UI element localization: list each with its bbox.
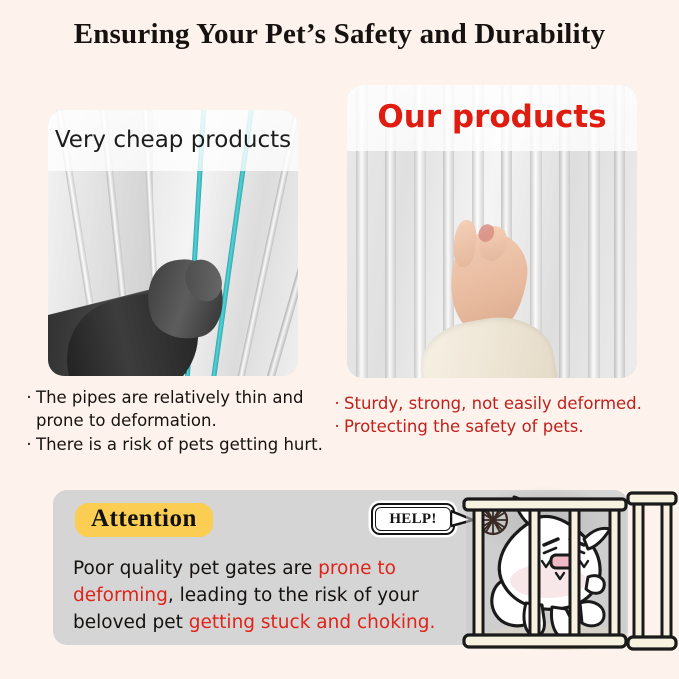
- gate-bar-vertical: [474, 507, 483, 637]
- bubble-label: HELP!: [371, 503, 455, 535]
- gate-bar-vertical: [610, 507, 619, 637]
- attention-body: Poor quality pet gates are prone to defo…: [73, 556, 448, 636]
- page-title: Ensuring Your Pet’s Safety and Durabilit…: [0, 18, 679, 51]
- gate-bar-vertical: [530, 507, 539, 637]
- cheap-products-bullets: · The pipes are relatively thin and pron…: [22, 386, 342, 456]
- cat-stuck-illustration: [452, 485, 679, 660]
- bullet-text: There is a risk of pets getting hurt.: [36, 433, 342, 456]
- bullet-text: Protecting the safety of pets.: [344, 415, 675, 438]
- our-products-caption: Our products: [347, 99, 637, 135]
- gate-bar-vertical: [634, 501, 643, 643]
- card-cheap-products: Very cheap products: [48, 110, 298, 376]
- cat-paw-side: [586, 576, 604, 594]
- cat-tail-nub: [580, 602, 604, 626]
- gate-rail-bottom: [464, 635, 626, 647]
- attention-highlight-text: getting stuck and choking.: [189, 612, 436, 633]
- bullet-dot: ·: [330, 392, 344, 415]
- list-item: · There is a risk of pets getting hurt.: [22, 433, 342, 456]
- gate-rail-top-right: [628, 493, 676, 504]
- card-our-products: Our products: [347, 85, 637, 378]
- list-item: · The pipes are relatively thin and pron…: [22, 386, 342, 433]
- cheap-products-caption: Very cheap products: [48, 127, 298, 153]
- attention-plain-text: Poor quality pet gates are: [73, 558, 318, 579]
- gate-rail-top: [464, 499, 626, 510]
- gate-rail-bottom-right: [628, 637, 676, 649]
- bullet-text: The pipes are relatively thin and prone …: [36, 386, 342, 433]
- help-speech-bubble: HELP!: [371, 503, 455, 535]
- bullet-dot: ·: [22, 386, 36, 409]
- gate-bar-vertical: [662, 501, 671, 643]
- list-item: · Sturdy, strong, not easily deformed.: [330, 392, 675, 415]
- infographic-root: Ensuring Your Pet’s Safety and Durabilit…: [0, 0, 679, 679]
- our-products-bullets: · Sturdy, strong, not easily deformed. ·…: [330, 392, 675, 439]
- list-item: · Protecting the safety of pets.: [330, 415, 675, 438]
- bullet-dot: ·: [22, 433, 36, 456]
- gate-bar-vertical: [570, 507, 579, 637]
- bullet-text: Sturdy, strong, not easily deformed.: [344, 392, 675, 415]
- attention-heading: Attention: [75, 503, 213, 537]
- bullet-dot: ·: [330, 415, 344, 438]
